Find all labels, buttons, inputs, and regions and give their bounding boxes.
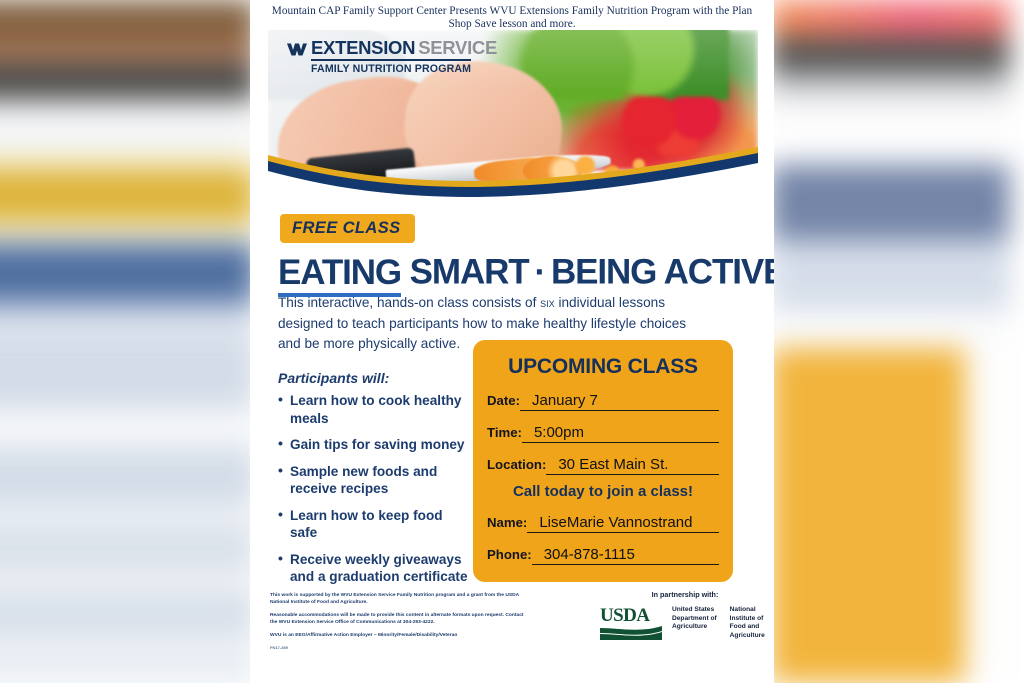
logo-subtitle: FAMILY NUTRITION PROGRAM	[311, 63, 497, 75]
intro-part-a: This interactive, hands-on class consist…	[278, 295, 540, 310]
field-name: Name: LiseMarie Vannostrand	[487, 514, 719, 533]
list-item: Receive weekly giveaways and a graduatio…	[278, 551, 470, 586]
nifa-text: National Institute of Food and Agricultu…	[730, 606, 774, 640]
flyer: Mountain CAP Family Support Center Prese…	[250, 0, 774, 683]
header-tagline: Mountain CAP Family Support Center Prese…	[250, 0, 774, 32]
legal-paragraph-1: This work is supported by the WVU Extens…	[270, 592, 528, 607]
field-phone: Phone: 304-878-1115	[487, 546, 719, 565]
field-time: Time: 5:00pm	[487, 424, 719, 443]
swoosh-divider	[268, 141, 758, 205]
field-phone-value: 304-878-1115	[532, 546, 719, 565]
list-item: Gain tips for saving money	[278, 436, 470, 454]
participants-list: Learn how to cook healthy meals Gain tip…	[278, 392, 470, 595]
free-class-badge: FREE CLASS	[280, 214, 415, 243]
field-time-label: Time:	[487, 425, 522, 440]
legal-paragraph-3: WVU is an EEO/Affirmative Action Employe…	[270, 632, 528, 639]
field-time-value: 5:00pm	[522, 424, 719, 443]
field-location-value: 30 East Main St.	[546, 456, 719, 475]
upcoming-class-card: UPCOMING CLASS Date: January 7 Time: 5:0…	[473, 340, 733, 582]
upcoming-class-title: UPCOMING CLASS	[473, 340, 733, 379]
flying-wv-icon	[286, 42, 308, 57]
partnership-label: In partnership with:	[600, 590, 770, 599]
call-to-action: Call today to join a class!	[473, 483, 733, 500]
field-date-value: January 7	[520, 392, 719, 411]
legal-paragraph-2: Reasonable accommodations will be made t…	[270, 612, 528, 627]
background-blur-left	[0, 0, 256, 683]
field-date: Date: January 7	[487, 392, 719, 411]
legal-fine-print: This work is supported by the WVU Extens…	[270, 592, 528, 656]
logo-word-extension: EXTENSION	[311, 39, 415, 57]
field-location: Location: 30 East Main St.	[487, 456, 719, 475]
field-name-value: LiseMarie Vannostrand	[527, 514, 719, 533]
legal-publication-code: FN17-289	[270, 644, 528, 651]
intro-six: six	[540, 295, 555, 310]
list-item: Sample new foods and receive recipes	[278, 463, 470, 498]
screenshot-canvas: Mountain CAP Family Support Center Prese…	[0, 0, 1024, 683]
title-eating: EATING	[278, 253, 401, 297]
field-name-label: Name:	[487, 515, 527, 530]
logo-rule	[311, 59, 471, 61]
usda-logo: USDA	[600, 606, 664, 645]
usda-dept-text: United States Department of Agriculture	[672, 606, 721, 640]
usda-swoosh-icon	[600, 626, 662, 640]
title-rest: SMART · BEING ACTIVE	[401, 253, 774, 292]
field-phone-label: Phone:	[487, 547, 532, 562]
list-item: Learn how to keep food safe	[278, 507, 470, 542]
hero-photo: EXTENSIONSERVICE FAMILY NUTRITION PROGRA…	[268, 30, 758, 205]
list-item: Learn how to cook healthy meals	[278, 392, 470, 427]
extension-service-logo: EXTENSIONSERVICE FAMILY NUTRITION PROGRA…	[286, 39, 497, 75]
page-title: EATING SMART · BEING ACTIVE®	[278, 248, 774, 292]
usda-wordmark: USDA	[600, 606, 664, 625]
logo-word-service: SERVICE	[418, 39, 497, 57]
field-date-label: Date:	[487, 393, 520, 408]
background-blur-right	[770, 0, 1024, 683]
partnership-block: In partnership with: USDA United States …	[600, 590, 774, 645]
field-location-label: Location:	[487, 457, 546, 472]
participants-heading: Participants will:	[278, 370, 389, 386]
